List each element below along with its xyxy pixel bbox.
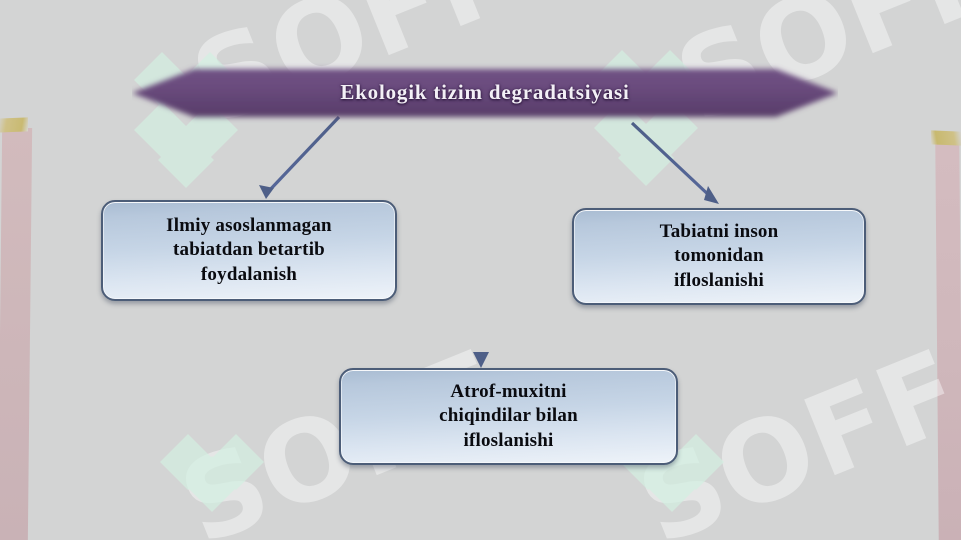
- connector-right: [632, 123, 719, 204]
- node-ilmiy-asoslanmagan[interactable]: Ilmiy asoslanmagan tabiatdan betartib fo…: [101, 200, 397, 301]
- connector-left: [259, 117, 339, 199]
- node-atrof-muxitni[interactable]: Atrof-muxitni chiqindilar bilan ifloslan…: [339, 368, 678, 465]
- page-title: Ekologik tizim degradatsiyasi: [132, 80, 838, 105]
- connector-center: [473, 123, 489, 368]
- slide-canvas: SOFF SOFF SOFF SOFF: [0, 0, 961, 540]
- node-label: Tabiatni inson tomonidan ifloslanishi: [650, 220, 789, 293]
- header-banner: Ekologik tizim degradatsiyasi: [132, 62, 838, 124]
- node-label: Ilmiy asoslanmagan tabiatdan betartib fo…: [156, 214, 342, 287]
- node-label: Atrof-muxitni chiqindilar bilan ifloslan…: [429, 380, 588, 453]
- node-tabiatni-inson[interactable]: Tabiatni inson tomonidan ifloslanishi: [572, 208, 866, 305]
